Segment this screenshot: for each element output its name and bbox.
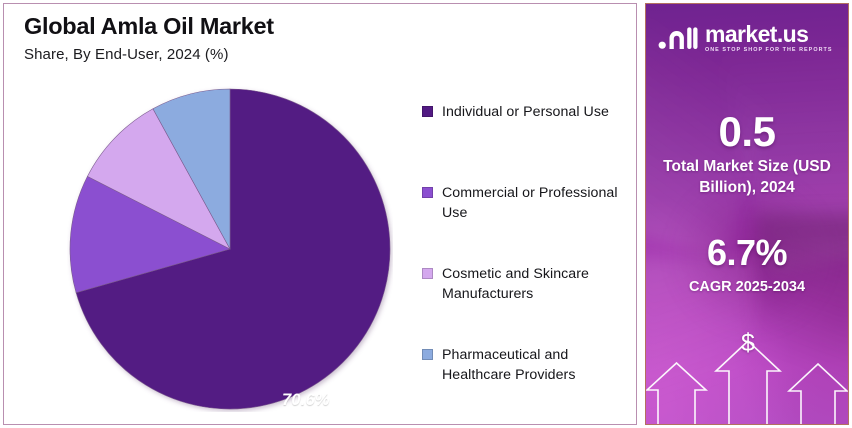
infographic-root: Global Amla Oil Market Share, By End-Use… <box>0 0 852 428</box>
legend-swatch-icon <box>422 106 433 117</box>
pie-slice-value-label: 70.6% <box>282 391 330 410</box>
legend-item-individual-or-personal-use[interactable]: Individual or Personal Use <box>422 102 609 122</box>
legend-item-label: Commercial or Professional Use <box>442 183 627 223</box>
page-title: Global Amla Oil Market <box>24 13 274 40</box>
growth-arrows-icon <box>646 329 849 425</box>
market-us-logo-text: market.us ONE STOP SHOP FOR THE REPORTS <box>705 22 833 54</box>
cagr-caption: CAGR 2025-2034 <box>646 278 848 297</box>
market-us-logo[interactable]: market.us ONE STOP SHOP FOR THE REPORTS <box>658 18 840 58</box>
logo-wordmark: market.us <box>705 22 833 46</box>
legend-item-label: Pharmaceutical and Healthcare Providers <box>442 345 627 385</box>
legend-item-label: Cosmetic and Skincare Manufacturers <box>442 264 627 304</box>
logo-tagline: ONE STOP SHOP FOR THE REPORTS <box>705 46 833 54</box>
legend-swatch-icon <box>422 187 433 198</box>
market-us-logo-icon <box>658 24 698 52</box>
legend-item-label: Individual or Personal Use <box>442 102 609 122</box>
chart-subtitle: Share, By End-User, 2024 (%) <box>24 46 229 63</box>
cagr-value: 6.7% <box>646 232 848 274</box>
brand-stats-panel: market.us ONE STOP SHOP FOR THE REPORTS … <box>645 3 849 425</box>
legend-swatch-icon <box>422 349 433 360</box>
chart-panel: Global Amla Oil Market Share, By End-Use… <box>3 3 637 425</box>
legend-item-pharmaceutical-and-healthcare-providers[interactable]: Pharmaceutical and Healthcare Providers <box>422 345 627 385</box>
legend-item-cosmetic-and-skincare-manufacturers[interactable]: Cosmetic and Skincare Manufacturers <box>422 264 627 304</box>
pie-chart-svg <box>67 86 393 412</box>
legend-swatch-icon <box>422 268 433 279</box>
market-size-value: 0.5 <box>646 108 848 156</box>
pie-chart: 70.6% <box>67 86 393 412</box>
legend-item-commercial-or-professional-use[interactable]: Commercial or Professional Use <box>422 183 627 223</box>
market-size-caption: Total Market Size (USD Billion), 2024 <box>646 156 848 198</box>
